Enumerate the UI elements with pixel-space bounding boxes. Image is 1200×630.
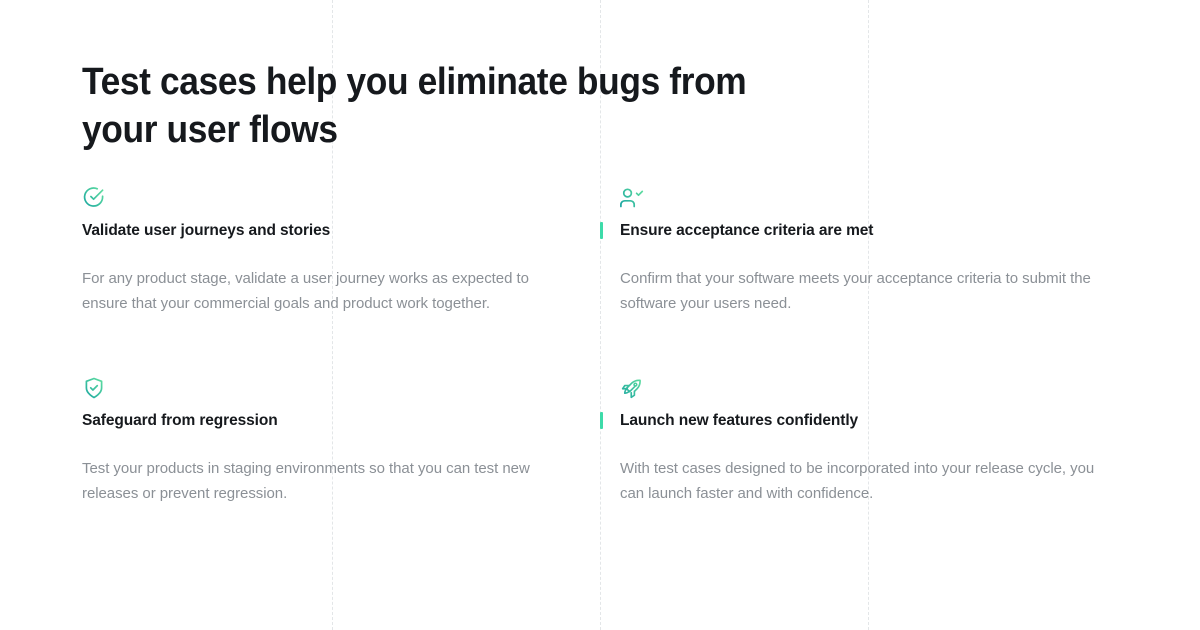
feature-body: For any product stage, validate a user j… [82,266,577,316]
feature-heading-text: Validate user journeys and stories [82,222,330,239]
feature-body: With test cases designed to be incorpora… [620,456,1120,506]
feature-heading: Validate user journeys and stories [82,220,592,242]
check-circle-icon [82,186,106,210]
shield-check-icon [82,376,106,400]
accent-bar [600,222,603,239]
user-check-icon [620,186,644,210]
feature-body: Confirm that your software meets your ac… [620,266,1120,316]
feature-heading-text: Ensure acceptance criteria are met [620,222,873,239]
feature-heading: Safeguard from regression [82,410,592,432]
feature-item: Safeguard from regression Test your prod… [82,376,592,506]
rocket-icon [620,376,644,400]
feature-item: Launch new features confidently With tes… [620,376,1130,506]
feature-heading-text: Safeguard from regression [82,412,278,429]
feature-heading-text: Launch new features confidently [620,412,858,429]
feature-item: Validate user journeys and stories For a… [82,186,592,316]
feature-heading: Launch new features confidently [620,410,1130,432]
accent-bar [600,412,603,429]
page-title: Test cases help you eliminate bugs from … [82,58,817,154]
feature-heading: Ensure acceptance criteria are met [620,220,1130,242]
feature-body: Test your products in staging environmen… [82,456,577,506]
feature-item: Ensure acceptance criteria are met Confi… [620,186,1130,316]
